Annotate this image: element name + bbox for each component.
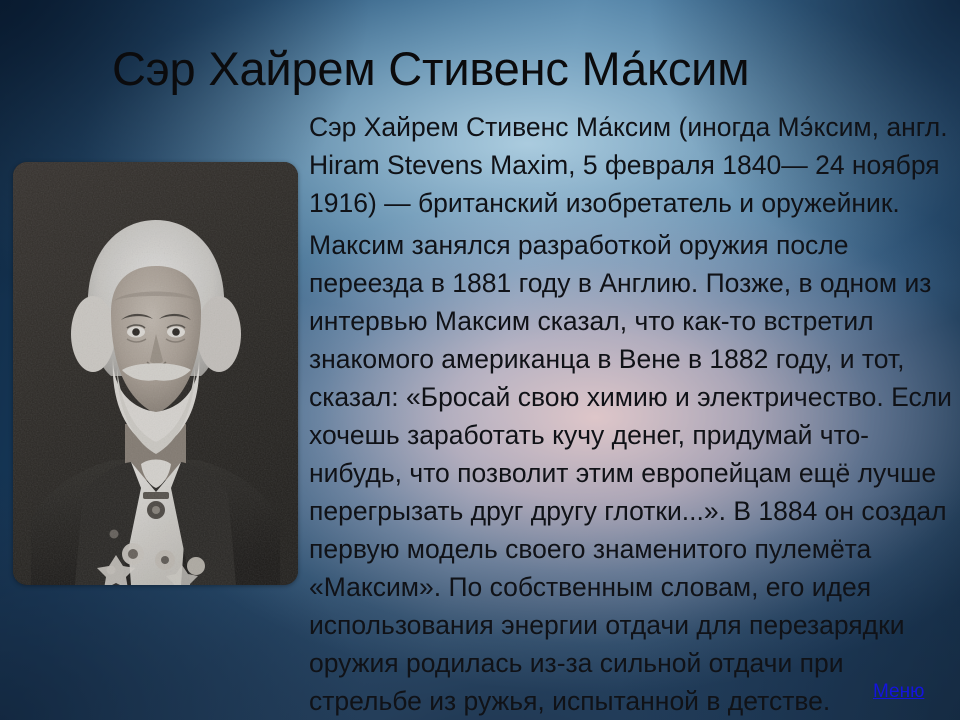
presentation-slide: Сэр Хайрем Стивенс Ма́ксим	[0, 0, 960, 720]
portrait-illustration	[13, 162, 298, 585]
portrait-photo	[13, 162, 298, 585]
paragraph-biography: Сэр Хайрем Стивенс Ма́ксим (иногда Мэ́кс…	[309, 108, 957, 222]
menu-link[interactable]: Меню	[873, 680, 924, 704]
body-text-block: Сэр Хайрем Стивенс Ма́ксим (иногда Мэ́кс…	[309, 108, 957, 720]
slide-title: Сэр Хайрем Стивенс Ма́ксим	[112, 40, 852, 98]
paragraph-weapons-development: Максим занялся разработкой оружия после …	[309, 226, 957, 720]
